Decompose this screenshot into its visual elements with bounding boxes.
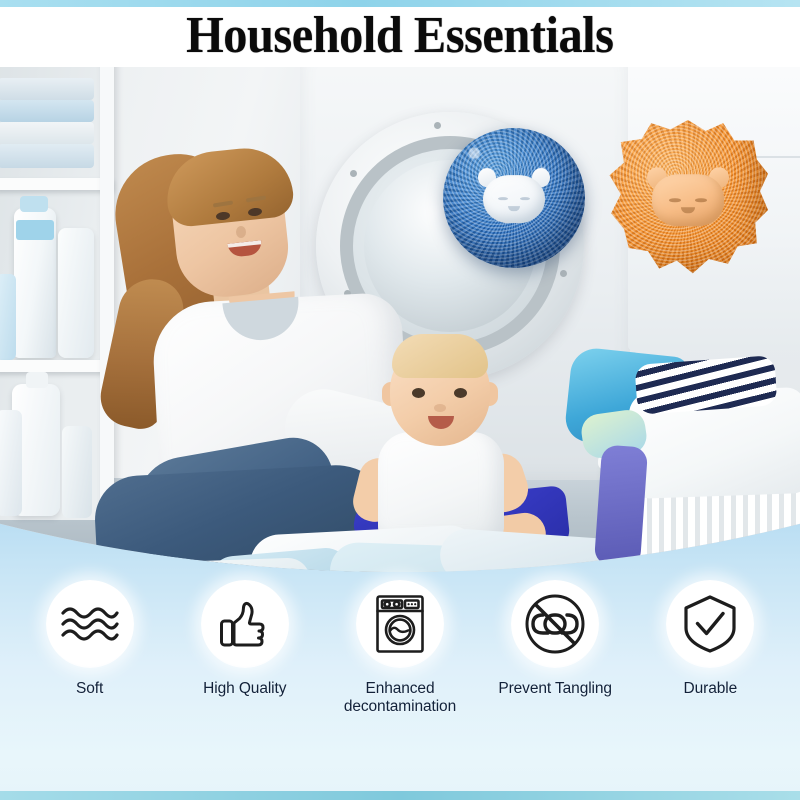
rim-bolt (560, 270, 567, 277)
orange-lint-ball-product (608, 120, 768, 278)
basket-clothes-purple (594, 445, 648, 568)
feature-item-high-quality[interactable]: High Quality (170, 580, 320, 698)
lion-eye (669, 198, 681, 202)
rim-bolt (434, 122, 441, 129)
lion-mouth (681, 208, 695, 214)
detergent-bottle (62, 426, 92, 518)
detergent-bottle (0, 410, 22, 516)
feature-icon-badge (46, 580, 134, 668)
blue-lint-ball-product (443, 128, 585, 268)
detergent-bottle-neck (26, 372, 48, 388)
detergent-bottle-label (16, 220, 54, 240)
woman-nose (236, 226, 246, 238)
feature-label-durable: Durable (684, 680, 738, 698)
no-tangle-icon (524, 593, 586, 655)
bear-face-icon (477, 170, 551, 228)
washing-machine-icon (375, 594, 425, 654)
feature-item-decontamination[interactable]: Enhanced decontamination (325, 566, 475, 715)
feature-label-high-quality: High Quality (203, 680, 286, 698)
feature-item-prevent-tangling[interactable]: Prevent Tangling (480, 580, 630, 698)
feature-icon-badge (201, 580, 289, 668)
feature-icon-badge (356, 580, 444, 668)
feature-label-decontamination: Enhanced decontamination (344, 680, 456, 715)
bear-eye (520, 197, 530, 200)
baby-eye (412, 388, 425, 398)
feature-label-prevent-tangling: Prevent Tangling (498, 680, 612, 698)
baby-nose (434, 404, 446, 412)
lion-eye (695, 198, 707, 202)
feature-label-line-1: Enhanced (344, 680, 456, 698)
product-banner: Household Essentials (0, 0, 800, 800)
title-bar: Household Essentials (0, 5, 800, 67)
detergent-bottle-cap (20, 196, 48, 212)
basket-clothes-striped (634, 355, 777, 415)
feature-item-durable[interactable]: Durable (635, 580, 785, 698)
detergent-bottle (0, 274, 16, 360)
feature-label-soft: Soft (76, 680, 103, 698)
feature-item-soft[interactable]: Soft (15, 580, 165, 698)
folded-towel (0, 78, 94, 100)
bottom-accent-strip (0, 791, 800, 800)
top-accent-strip (0, 0, 800, 7)
detergent-bottle (58, 228, 94, 358)
lion-head (652, 174, 724, 226)
feature-strip: Soft High Quality (0, 580, 800, 755)
baby-hair (392, 334, 488, 378)
bear-eye (498, 197, 508, 200)
folded-towel (0, 100, 94, 122)
bear-mouth (508, 206, 520, 211)
feature-icon-badge (666, 580, 754, 668)
baby-eye (454, 388, 467, 398)
bear-head (483, 175, 545, 224)
lion-face-icon (645, 169, 731, 231)
feature-label-line-2: decontamination (344, 698, 456, 716)
waves-icon (60, 603, 120, 645)
folded-towel (0, 122, 94, 144)
folded-towel (0, 144, 94, 168)
page-title: Household Essentials (186, 10, 613, 62)
feature-icon-badge (511, 580, 599, 668)
thumbs-up-icon (218, 597, 272, 651)
shield-check-icon (682, 594, 738, 654)
